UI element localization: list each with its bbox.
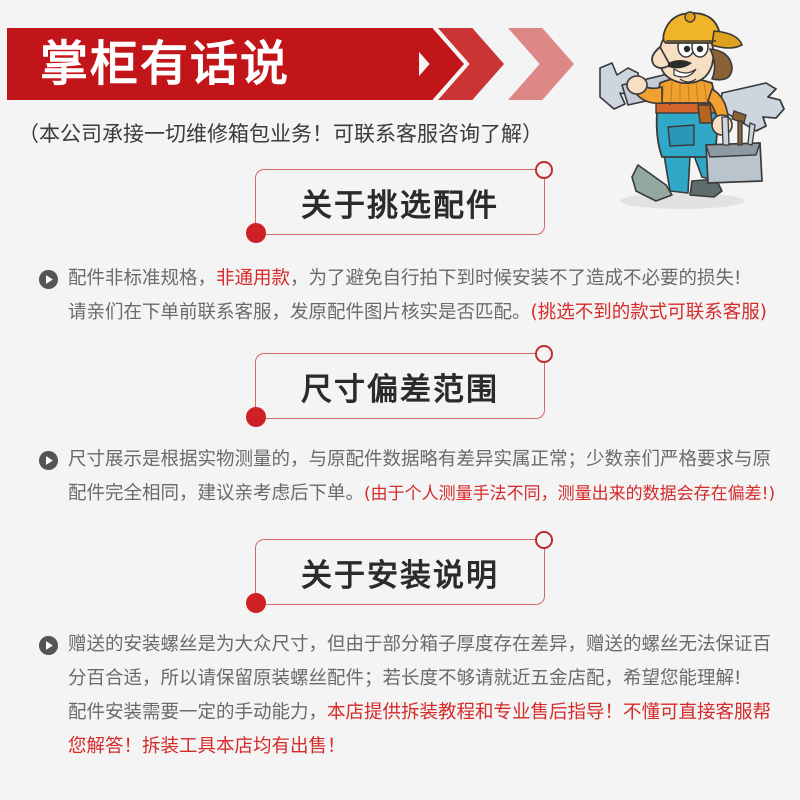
play-circle-icon xyxy=(38,269,59,290)
section-body-1-text: 配件非标准规格，非通用款，为了避免自行拍下到时候安装不了造成不必要的损失! 请亲… xyxy=(38,262,778,330)
body-line: 分百合适，所以请保留原装螺丝配件；若长度不够请就近五金店配，希望您能理解! xyxy=(68,662,778,696)
body-line: 配件安装需要一定的手动能力，本店提供拆装教程和专业售后指导！不懂可直接客服帮 xyxy=(68,696,778,730)
play-circle-icon xyxy=(38,450,59,471)
section-badge-3: 关于安装说明 xyxy=(255,539,545,605)
section-badge-label-2: 尺寸偏差范围 xyxy=(256,354,544,418)
section-select-parts: 关于挑选配件 xyxy=(0,169,800,235)
section-body-1: 配件非标准规格，非通用款，为了避免自行拍下到时候安装不了造成不必要的损失! 请亲… xyxy=(38,262,778,330)
chevron-3-icon xyxy=(508,28,574,100)
body-line: 赠送的安装螺丝是为大众尺寸，但由于部分箱子厚度存在差异，赠送的螺丝无法保证百 xyxy=(68,628,778,662)
section-body-3: 赠送的安装螺丝是为大众尺寸，但由于部分箱子厚度存在差异，赠送的螺丝无法保证百 分… xyxy=(38,628,778,764)
promo-page: 掌柜有话说 （本公司承接一切维修箱包业务！可联系客服咨询了解） xyxy=(0,0,800,800)
body-line: 配件非标准规格，非通用款，为了避免自行拍下到时候安装不了造成不必要的损失! xyxy=(68,262,778,296)
section-badge-label-3: 关于安装说明 xyxy=(256,540,544,604)
header-banner: 掌柜有话说 （本公司承接一切维修箱包业务！可联系客服咨询了解） xyxy=(0,0,800,165)
section-body-2: 尺寸展示是根据实物测量的，与原配件数据略有差异实属正常；少数亲们严格要求与原 配… xyxy=(38,443,778,511)
play-circle-icon xyxy=(38,635,59,656)
header-subtitle: （本公司承接一切维修箱包业务！可联系客服咨询了解） xyxy=(18,118,543,148)
section-body-3-text: 赠送的安装螺丝是为大众尺寸，但由于部分箱子厚度存在差异，赠送的螺丝无法保证百 分… xyxy=(38,628,778,764)
section-badge-2: 尺寸偏差范围 xyxy=(255,353,545,419)
body-line: 尺寸展示是根据实物测量的，与原配件数据略有差异实属正常；少数亲们严格要求与原 xyxy=(68,443,778,477)
section-badge-label-1: 关于挑选配件 xyxy=(256,170,544,234)
body-line: 配件完全相同，建议亲考虑后下单。(由于个人测量手法不同，测量出来的数据会存在偏差… xyxy=(68,477,778,511)
section-badge-1: 关于挑选配件 xyxy=(255,169,545,235)
section-body-2-text: 尺寸展示是根据实物测量的，与原配件数据略有差异实属正常；少数亲们严格要求与原 配… xyxy=(38,443,778,511)
section-size-deviation: 尺寸偏差范围 xyxy=(0,353,800,419)
body-line: 您解答！拆装工具本店均有出售！ xyxy=(68,730,778,764)
body-line: 请亲们在下单前联系客服，发原配件图片核实是否匹配。(挑选不到的款式可联系客服) xyxy=(68,296,778,330)
section-installation: 关于安装说明 xyxy=(0,539,800,605)
page-title: 掌柜有话说 xyxy=(40,27,290,101)
